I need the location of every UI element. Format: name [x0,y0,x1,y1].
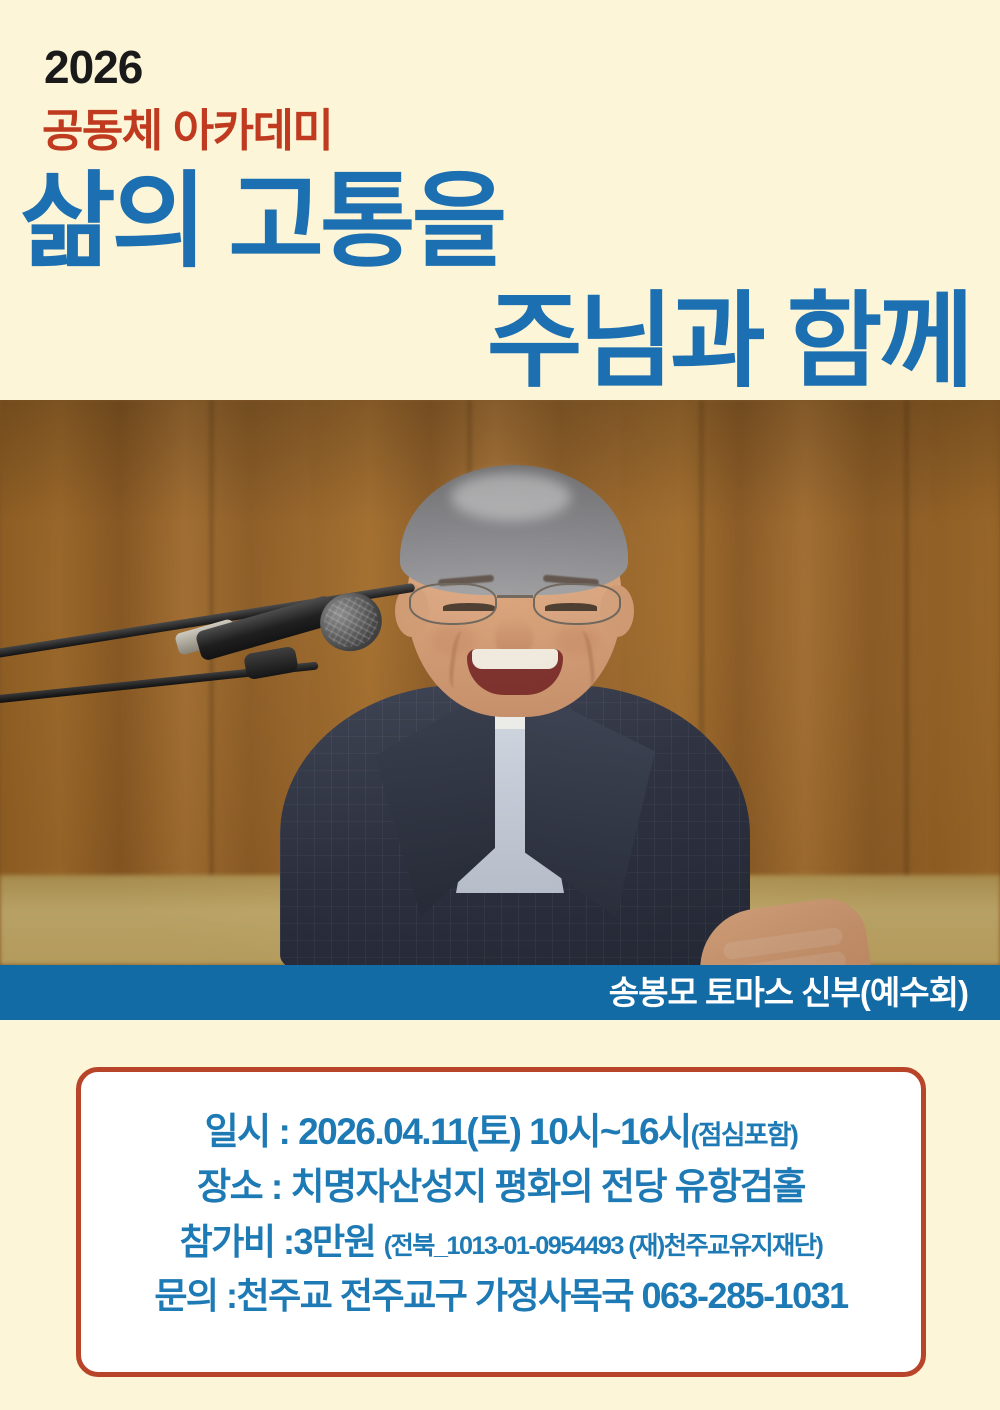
title-line-2: 주님과 함께 [487,288,970,397]
speaker-name-banner: 송봉모 토마스 신부(예수회) [0,965,1000,1020]
datetime-label: 일시 : [205,1111,290,1152]
fee-label: 참가비 : [180,1221,294,1262]
hair-highlight [451,473,571,521]
place-label: 장소 : [197,1166,282,1207]
lens-left [409,583,497,625]
detail-datetime: 일시 : 2026.04.11(토) 10시~16시(점심포함) [81,1108,921,1155]
detail-fee: 참가비 :3만원 (전북_1013-01-0954493 (재)천주교유지재단) [81,1219,921,1265]
fee-value: 3만원 [293,1221,375,1262]
teeth [472,649,558,669]
datetime-note: (점심포함) [691,1120,798,1150]
lens-right [533,583,621,625]
detail-contact: 문의 :천주교 전주교구 가정사목국 063-285-1031 [81,1273,921,1319]
event-poster: 2026 공동체 아카데미 삶의 고통을 주님과 함께 [0,0,1000,1410]
speaker-figure [255,435,775,965]
year-label: 2026 [44,44,142,90]
program-subtitle: 공동체 아카데미 [42,108,332,153]
place-value: 치명자산성지 평화의 전당 유항검홀 [291,1166,805,1207]
detail-place: 장소 : 치명자산성지 평화의 전당 유항검홀 [81,1163,921,1210]
speaker-photo [0,400,1000,965]
speaker-name: 송봉모 토마스 신부(예수회) [609,976,1000,1009]
contact-label: 문의 : [154,1275,236,1316]
title-line-1: 삶의 고통을 [20,168,503,277]
poster-header: 2026 공동체 아카데미 삶의 고통을 주님과 함께 [0,0,1000,400]
glasses-bridge [497,595,533,598]
event-details-box: 일시 : 2026.04.11(토) 10시~16시(점심포함) 장소 : 치명… [76,1067,926,1377]
fee-account-note: (전북_1013-01-0954493 (재)천주교유지재단) [384,1232,823,1260]
datetime-value: 2026.04.11(토) 10시~16시 [298,1111,691,1152]
contact-value: 천주교 전주교구 가정사목국 063-285-1031 [237,1275,848,1316]
